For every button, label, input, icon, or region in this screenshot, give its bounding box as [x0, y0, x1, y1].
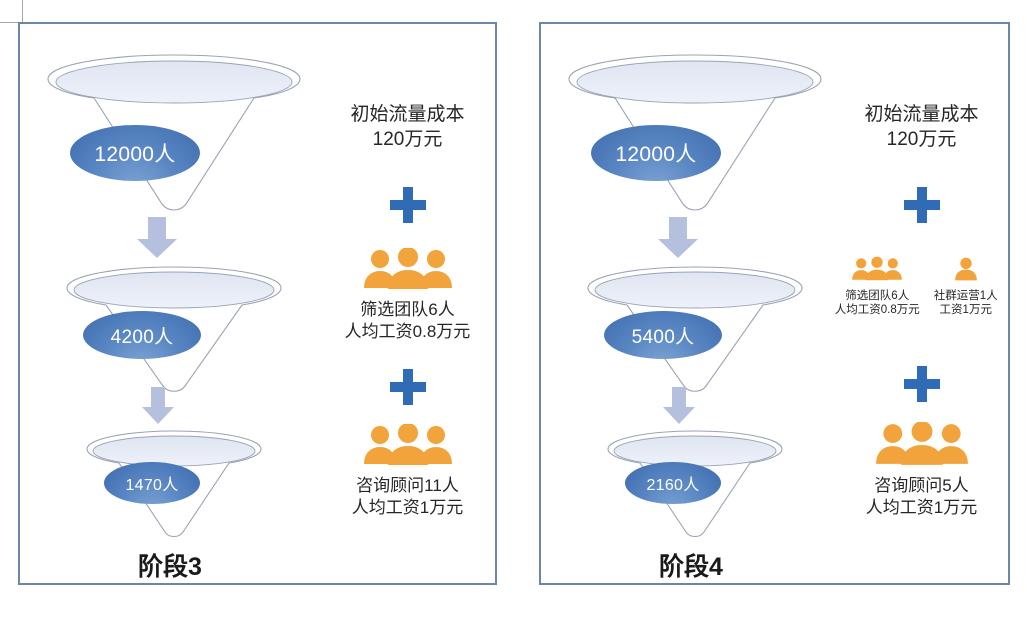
- funnel-stage-4-level-2: [584, 264, 806, 396]
- funnel-stage-3-level-2: [63, 264, 285, 396]
- info-screening-team: 筛选团队6人 人均工资0.8万元: [320, 299, 495, 344]
- stage-label: 阶段3: [20, 547, 320, 583]
- info-column-stage-3: 初始流量成本 120万元 筛选团队: [320, 24, 495, 583]
- info-consultant-team: 咨询顾问5人 人均工资1万元: [833, 475, 1010, 520]
- plus-icon: [389, 186, 427, 224]
- funnel-stage-3-level-1: [44, 52, 304, 218]
- panel-stage-4: 12000人: [539, 22, 1010, 585]
- three-people-icon: [362, 424, 454, 466]
- funnel-stage-3-level-3: [83, 428, 265, 540]
- three-people-icon: [851, 256, 903, 287]
- funnel-column-stage-3: 12000人: [20, 24, 320, 583]
- info-initial-traffic-cost: 初始流量成本 120万元: [320, 102, 495, 152]
- info-consultant-team: 咨询顾问11人 人均工资1万元: [320, 475, 495, 520]
- one-person-icon: [954, 256, 978, 287]
- three-people-icon: [874, 422, 970, 466]
- info-community-operation: 社群运营1人 工资1万元: [934, 289, 998, 318]
- arrow-down-stage-3-1: [136, 217, 178, 259]
- panel-stage-3: 12000人: [18, 22, 497, 585]
- info-column-stage-4: 初始流量成本 120万元: [833, 24, 1010, 583]
- stage-label: 阶段4: [541, 547, 841, 583]
- arrow-down-stage-4-1: [657, 217, 699, 259]
- arrow-down-stage-4-2: [662, 387, 696, 425]
- plus-icon: [389, 368, 427, 406]
- arrow-down-stage-3-2: [141, 387, 175, 425]
- page-crop-mark: [0, 0, 23, 23]
- info-screening-team: 筛选团队6人 人均工资0.8万元: [835, 289, 920, 318]
- plus-icon: [903, 186, 941, 224]
- funnel-stage-4-level-1: [565, 52, 825, 218]
- info-initial-traffic-cost: 初始流量成本 120万元: [833, 102, 1010, 152]
- dual-item-screening-team: 筛选团队6人 人均工资0.8万元: [833, 256, 922, 318]
- funnel-column-stage-4: 12000人: [541, 24, 841, 583]
- plus-icon: [903, 365, 941, 403]
- three-people-icon: [362, 248, 454, 290]
- diagram-canvas: 12000人: [0, 0, 1027, 630]
- dual-people-group: 筛选团队6人 人均工资0.8万元 社群运营1人 工资1万元: [833, 256, 1010, 318]
- dual-item-community-operation: 社群运营1人 工资1万元: [922, 256, 1011, 318]
- funnel-stage-4-level-3: [604, 428, 786, 540]
